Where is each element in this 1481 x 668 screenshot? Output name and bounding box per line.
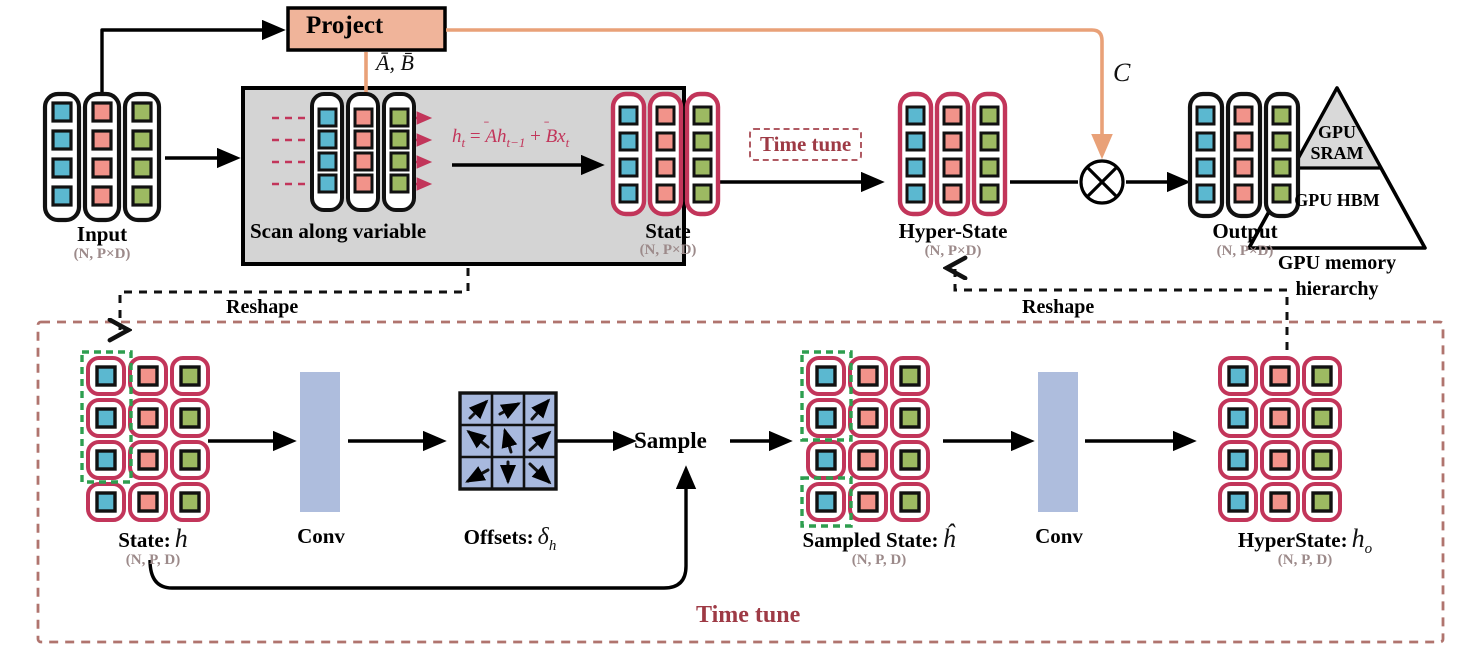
gpu-sram-label-line1: GPU	[1297, 122, 1377, 143]
hyperstate-title: Hyper-State	[872, 219, 1034, 244]
bottom-state-grid	[88, 358, 208, 520]
input-cell-columns	[45, 94, 159, 220]
bottom-state-title: State: h	[58, 524, 248, 554]
conv2-bar	[1038, 372, 1078, 512]
reshape-left-label: Reshape	[226, 296, 298, 319]
gpu-sram-label-line2: SRAM	[1297, 143, 1377, 164]
sampled-state-title-text: Sampled State:	[803, 528, 939, 552]
sampled-state-title: Sampled State: ĥ	[734, 524, 1024, 554]
hyperstate-cell-columns	[900, 94, 1005, 214]
scan-equation: ht = Āht−1 + B̄xt	[452, 126, 569, 151]
c-label: C	[1113, 58, 1130, 88]
bottom-hyperstate-grid	[1220, 358, 1340, 520]
scan-cell-columns	[312, 94, 414, 210]
diagram-canvas: Project Ā, B̄ C Input (N, P×D) Scan alo…	[0, 0, 1481, 668]
reshape-right-path	[955, 268, 1287, 350]
offsets-label-text: Offsets:	[464, 525, 534, 549]
hyperstate-dims: (N, P×D)	[872, 243, 1034, 260]
scan-title: Scan along variable	[250, 219, 530, 244]
bottom-hyperstate-symbol: ho	[1352, 524, 1373, 553]
input-dims: (N, P×D)	[46, 246, 158, 263]
gpu-caption-line2: hierarchy	[1277, 278, 1397, 301]
state-dims: (N, P×D)	[608, 242, 728, 259]
bottom-hyperstate-dims: (N, P, D)	[1170, 552, 1440, 569]
bottom-state-dims: (N, P, D)	[58, 552, 248, 569]
offsets-symbol: δh	[538, 524, 557, 550]
ab-bar-label: Ā, B̄	[376, 50, 414, 76]
bottom-hyperstate-title-text: HyperState:	[1238, 528, 1348, 552]
bottom-state-title-text: State:	[118, 528, 170, 552]
bottom-state-symbol: h	[175, 524, 188, 553]
sampled-state-dims: (N, P, D)	[734, 552, 1024, 569]
state-title: State	[608, 219, 728, 244]
gpu-hbm-label: GPU HBM	[1282, 190, 1392, 211]
conv2-label: Conv	[1004, 524, 1114, 549]
gpu-caption-line1: GPU memory	[1277, 252, 1397, 275]
conv1-bar	[300, 372, 340, 512]
time-tune-panel-label: Time tune	[696, 602, 800, 629]
sample-label: Sample	[634, 428, 707, 454]
time-tune-badge[interactable]: Time tune	[749, 128, 862, 161]
state-cell-columns	[613, 94, 718, 214]
project-label[interactable]: Project	[306, 12, 383, 40]
offsets-label: Offsets: δh	[420, 524, 600, 555]
sampled-state-symbol: ĥ	[942, 524, 955, 553]
conv1-label: Conv	[266, 524, 376, 549]
reshape-right-label: Reshape	[1022, 296, 1094, 319]
input-title: Input	[46, 222, 158, 247]
offsets-grid	[460, 393, 556, 489]
output-title: Output	[1184, 219, 1306, 244]
